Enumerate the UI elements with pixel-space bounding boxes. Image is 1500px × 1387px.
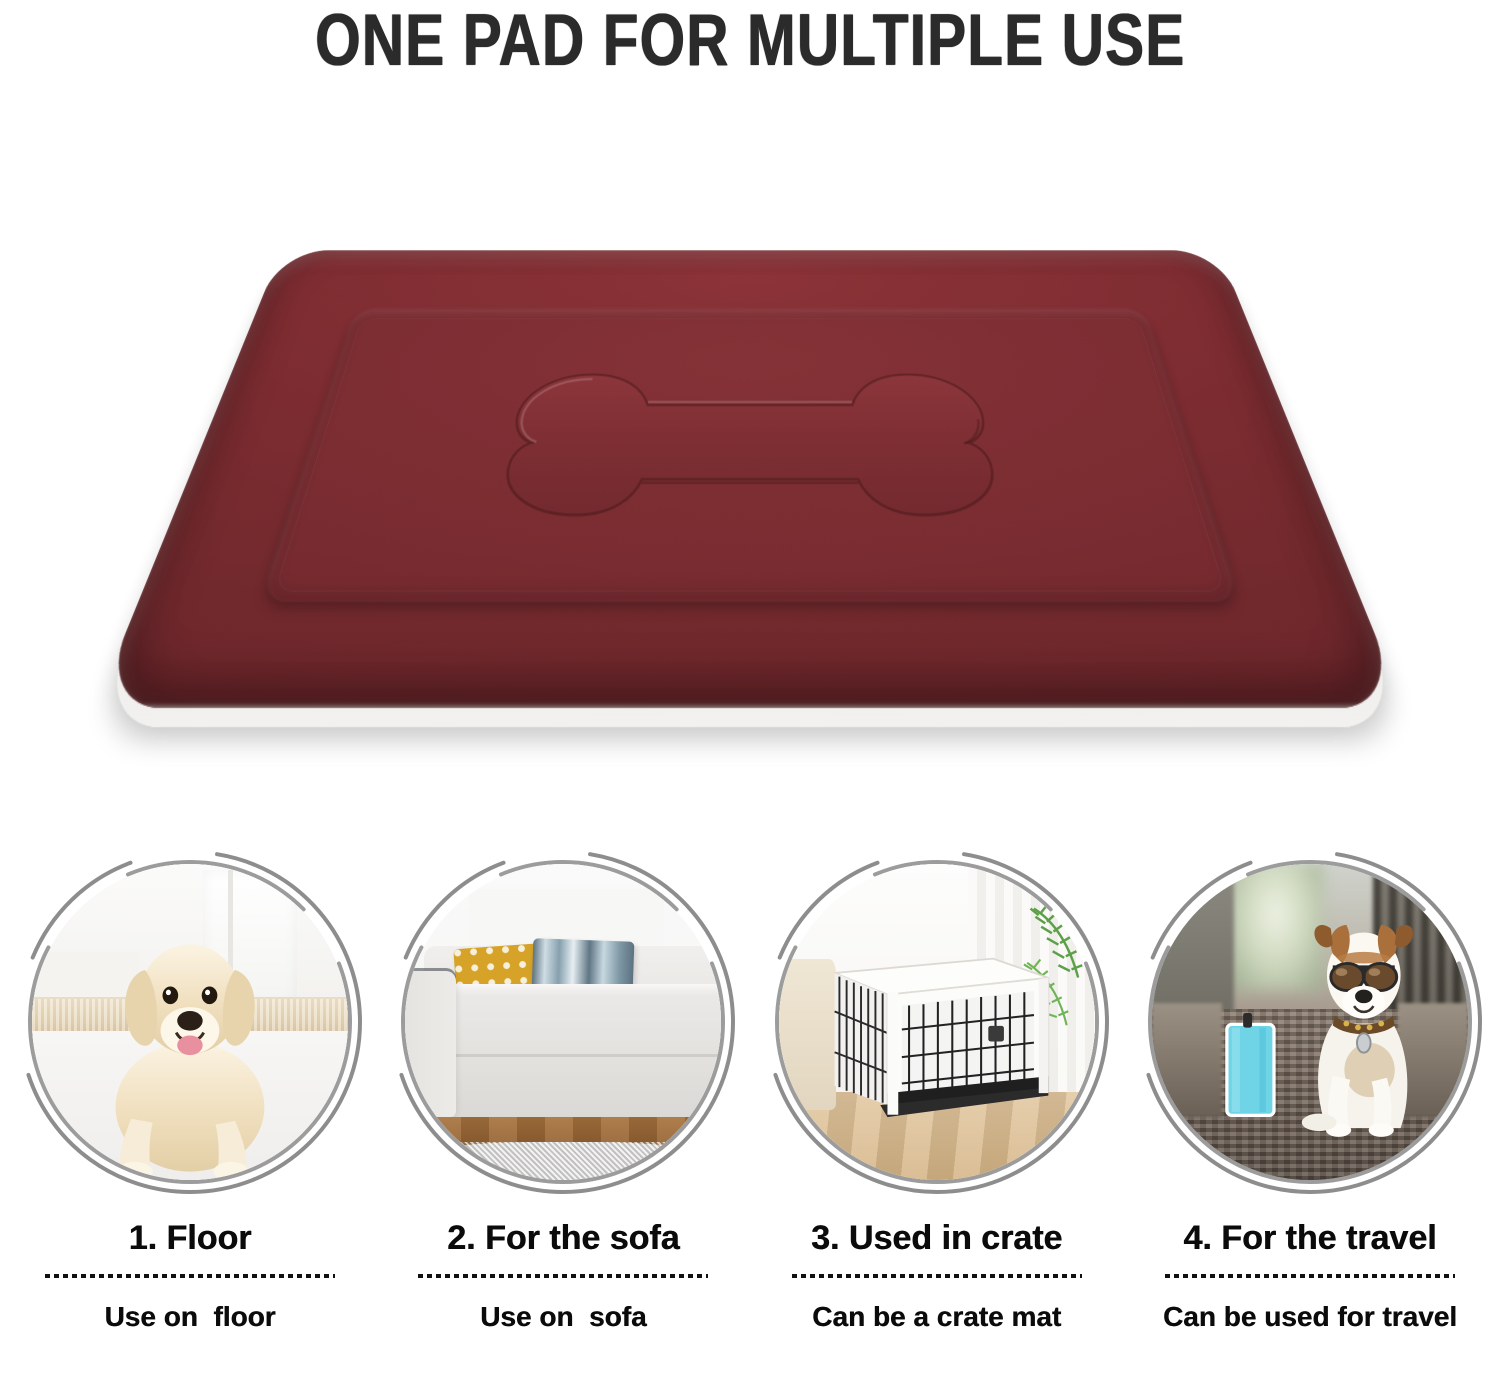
caption-divider [418, 1274, 708, 1278]
use-case-photo [405, 864, 721, 1180]
bone-emboss-icon [475, 363, 1025, 526]
pad-inner-panel [262, 312, 1239, 602]
use-case-card: 1. Floor Use on floor [14, 842, 366, 1387]
pad-bottom-seam [119, 702, 1381, 708]
use-case-title: 3. Used in crate [761, 1218, 1113, 1258]
use-case-title: 1. Floor [14, 1218, 366, 1258]
use-case-card: 3. Used in crate Can be a crate mat [761, 842, 1113, 1387]
pad-fabric-surface [95, 250, 1405, 708]
use-case-subtitle: Can be a crate mat [761, 1300, 1113, 1334]
use-case-card-list: 1. Floor Use on floor [0, 842, 1500, 1387]
use-case-title: 2. For the sofa [387, 1218, 739, 1258]
use-case-subtitle: Use on sofa [387, 1300, 739, 1334]
use-case-card: 4. For the travel Can be used for travel [1134, 842, 1486, 1387]
use-case-title: 4. For the travel [1134, 1218, 1486, 1258]
circle-photo-frame [16, 848, 364, 1196]
page-title: ONE PAD FOR MULTIPLE USE [150, 2, 1350, 80]
caption-divider [1165, 1274, 1455, 1278]
product-hero-image [0, 150, 1500, 770]
use-case-subtitle: Use on floor [14, 1300, 366, 1334]
circle-photo-frame [1136, 848, 1484, 1196]
use-case-photo [779, 864, 1095, 1180]
circle-photo-frame [389, 848, 737, 1196]
circle-photo-frame [763, 848, 1111, 1196]
dog-pad-product [95, 250, 1405, 708]
use-case-subtitle: Can be used for travel [1134, 1300, 1486, 1334]
caption-divider [792, 1274, 1082, 1278]
use-case-photo [1152, 864, 1468, 1180]
caption-divider [45, 1274, 335, 1278]
use-case-photo [32, 864, 348, 1180]
use-case-card: 2. For the sofa Use on sofa [387, 842, 739, 1387]
